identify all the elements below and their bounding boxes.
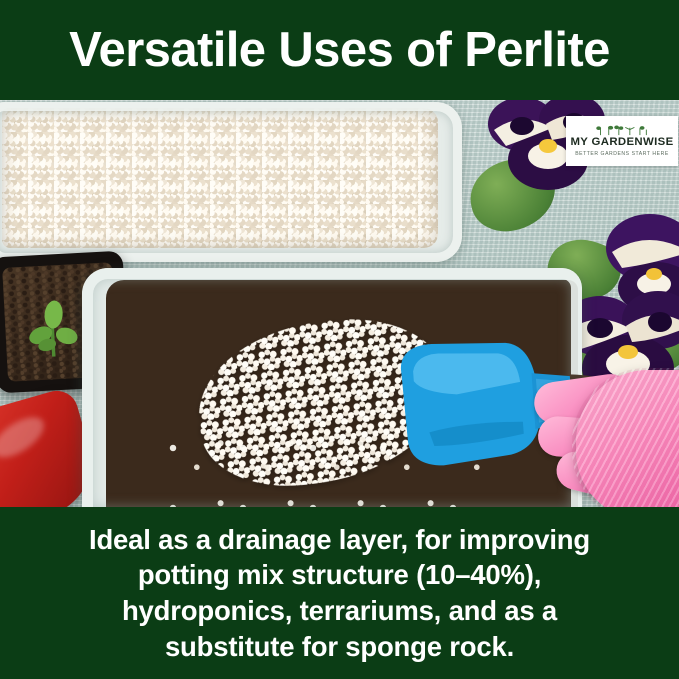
- page-title: Versatile Uses of Perlite: [69, 26, 610, 75]
- photo-collage: MY GARDENWISE BETTER GARDENS START HERE: [0, 100, 679, 507]
- header-band: Versatile Uses of Perlite: [0, 0, 679, 100]
- brand-logo[interactable]: MY GARDENWISE BETTER GARDENS START HERE: [566, 116, 678, 166]
- caption-line: substitute for sponge rock.: [89, 629, 590, 665]
- perlite-tray: [0, 102, 462, 262]
- caption-line: Ideal as a drainage layer, for improving: [89, 522, 590, 558]
- logo-name: MY GARDENWISE: [570, 137, 673, 148]
- pink-glove: [542, 352, 679, 507]
- seedling-sprout-icon: [23, 299, 82, 360]
- caption-text: Ideal as a drainage layer, for improving…: [89, 522, 590, 665]
- logo-tagline: BETTER GARDENS START HERE: [575, 152, 669, 157]
- caption-line: potting mix structure (10–40%),: [89, 557, 590, 593]
- pinterest-style-infographic: Versatile Uses of Perlite: [0, 0, 679, 679]
- sprout-icon: [595, 125, 650, 136]
- caption-line: hydroponics, terrariums, and as a: [89, 593, 590, 629]
- perlite-tray-rim: [0, 102, 462, 262]
- caption-band: Ideal as a drainage layer, for improving…: [0, 507, 679, 679]
